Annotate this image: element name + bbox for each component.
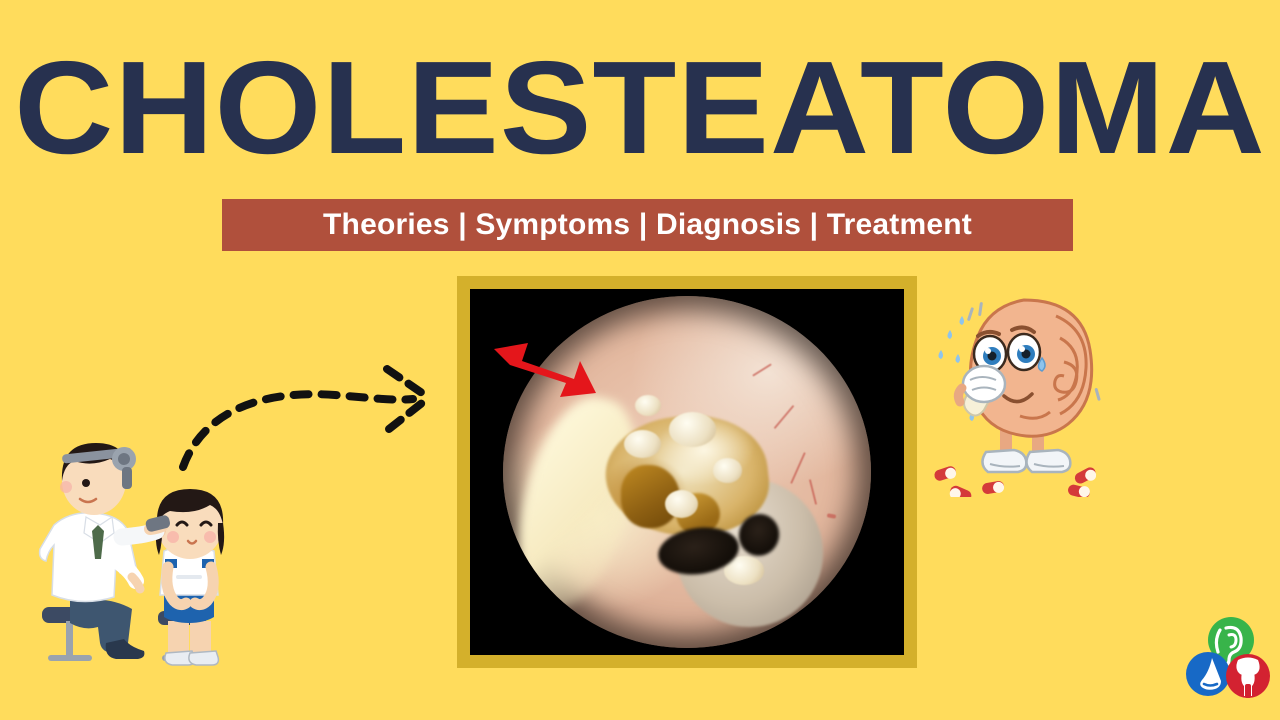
blood-vessel: [773, 404, 794, 428]
nose-logo-icon: [1186, 652, 1230, 696]
pill: [1073, 465, 1098, 485]
ent-logo[interactable]: [1186, 616, 1272, 702]
shoe: [1026, 450, 1070, 472]
pill: [948, 484, 973, 497]
doctor-examining-child-illustration: [18, 425, 258, 675]
keratin-flake: [635, 395, 661, 416]
otoscopy-photo-frame: [457, 276, 917, 668]
keratin-flake: [624, 430, 661, 458]
blood-vessel: [809, 479, 817, 505]
subtitle-banner: Theories | Symptoms | Diagnosis | Treatm…: [222, 199, 1073, 251]
subtitle-text: Theories | Symptoms | Diagnosis | Treatm…: [323, 208, 972, 242]
doctor: [40, 443, 171, 659]
pill: [981, 480, 1005, 495]
blood-vessel: [752, 364, 772, 377]
sad-ear-mascot-illustration: [928, 292, 1124, 497]
page-title: CHOLESTEATOMA: [0, 42, 1280, 174]
red-arrow-icon: [492, 335, 600, 403]
throat-logo-icon: [1226, 654, 1270, 698]
keratin-flake: [713, 458, 742, 483]
shoe: [982, 450, 1026, 472]
pill: [933, 465, 958, 482]
keratin-flake: [665, 490, 698, 518]
pill: [1067, 483, 1091, 497]
blood-vessel: [791, 452, 807, 484]
otoscopy-photo: [470, 289, 904, 655]
slide-canvas: CHOLESTEATOMA Theories | Symptoms | Diag…: [0, 0, 1280, 720]
blood-vessel: [827, 513, 837, 519]
